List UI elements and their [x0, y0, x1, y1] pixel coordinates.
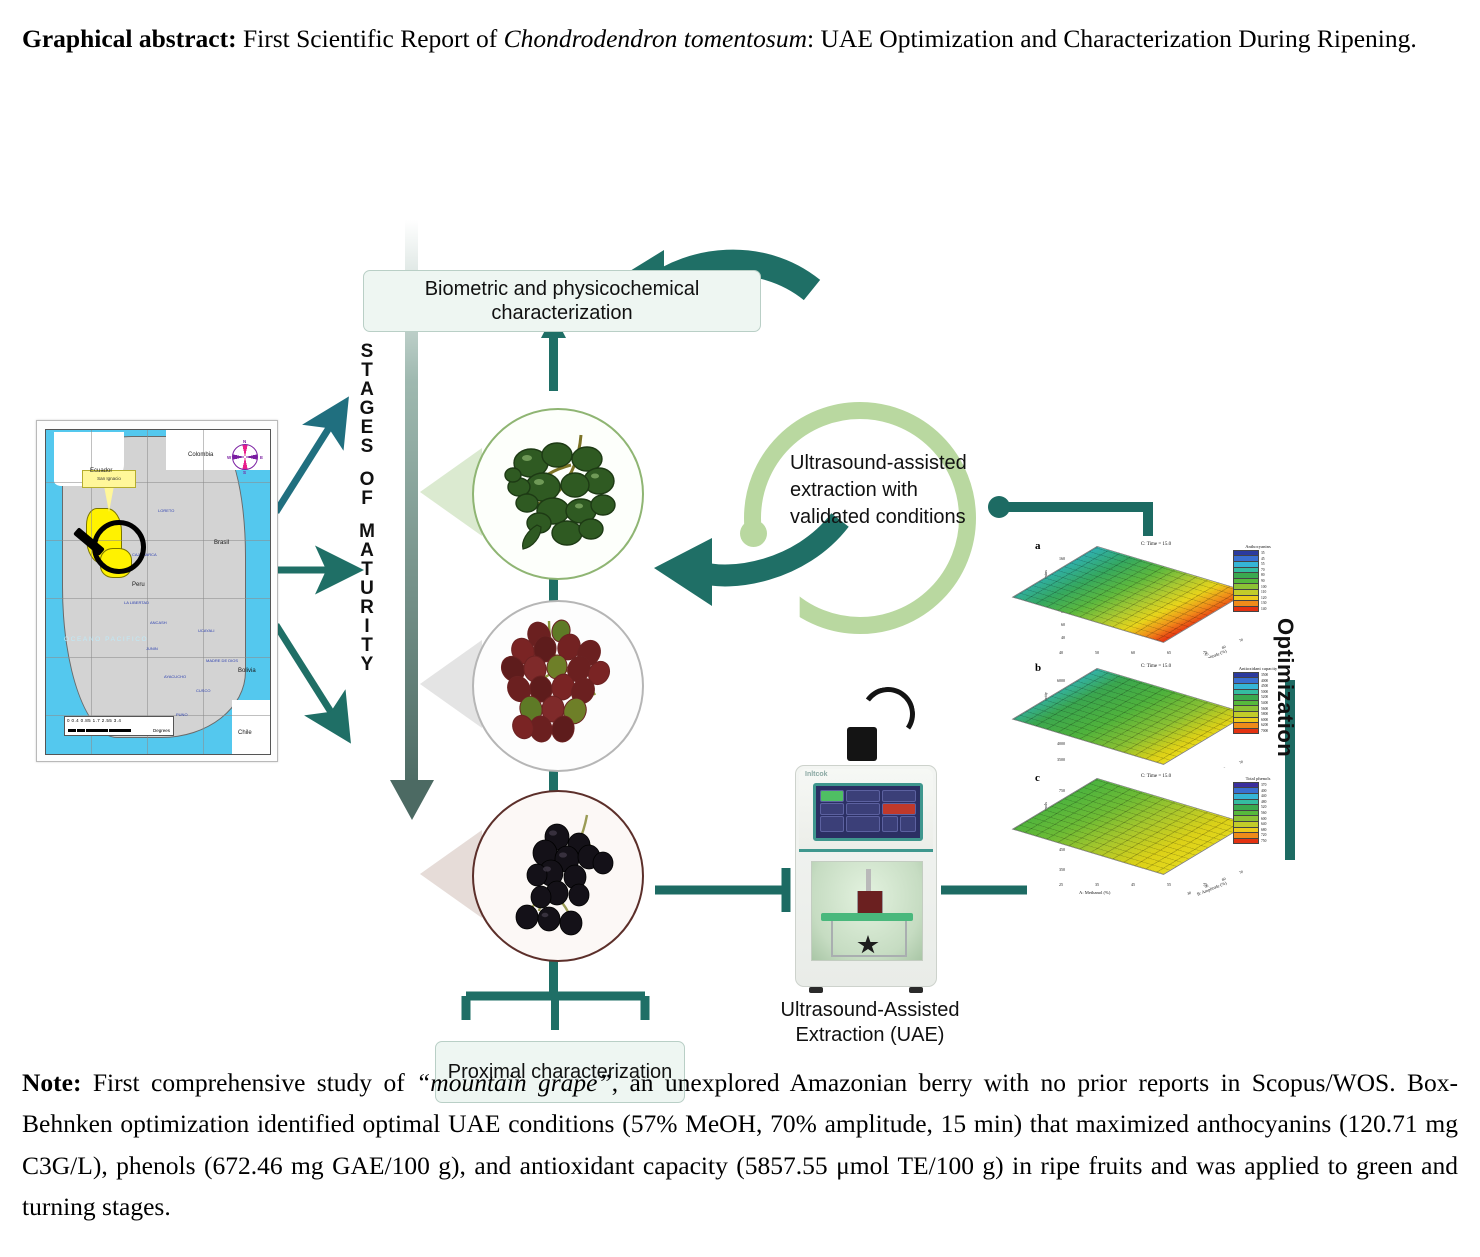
legend-value: 7000 — [1261, 729, 1268, 733]
machine-foot-left — [809, 987, 823, 993]
biometric-characterization-box[interactable]: Biometric and physicochemical characteri… — [363, 270, 761, 332]
map-gridline — [46, 482, 270, 483]
stage-letter: T — [352, 560, 382, 579]
fruit-circle-ripe-stage[interactable] — [472, 790, 644, 962]
stage-letter-gap — [352, 508, 382, 522]
map-label-bolivia: Bolivia — [238, 668, 256, 674]
machine-transducer-icon — [847, 727, 877, 761]
tick: 70 — [1238, 637, 1244, 643]
peru-map-panel: San Ignacio Ecuador Colombia Brasil Boli… — [36, 420, 278, 762]
legend-value: 100 — [1261, 585, 1266, 589]
legend-value: 35 — [1261, 551, 1265, 555]
stage-letter: A — [352, 541, 382, 560]
map-label-peru: Peru — [132, 582, 145, 588]
map-scale-bars — [68, 729, 131, 732]
legend-value: 3500 — [1261, 673, 1268, 677]
title-rest-2: : UAE Optimization and Characterization … — [807, 24, 1417, 53]
graphical-abstract-note: Note: First comprehensive study of “moun… — [22, 1062, 1458, 1227]
legend-value: 5200 — [1261, 695, 1268, 699]
screen-button-f[interactable] — [900, 816, 916, 832]
legend-value: 5400 — [1261, 701, 1268, 705]
stage-letter: F — [352, 489, 382, 508]
legend-value: 55 — [1261, 562, 1265, 566]
map-landmass-chile — [232, 700, 271, 754]
compass-s-label: S — [243, 470, 246, 475]
stage-letter: S — [352, 437, 382, 456]
map-label-region: MADRE DE DIOS — [206, 658, 238, 663]
legend-swatch — [1233, 606, 1259, 613]
legend-value: 130 — [1261, 601, 1266, 605]
screen-button-c[interactable] — [820, 816, 844, 832]
machine-brand-label: Inltcok — [805, 771, 828, 778]
tick: 35 — [1095, 882, 1099, 887]
legend-value: 480 — [1261, 800, 1266, 804]
stage-letter: U — [352, 579, 382, 598]
turning-grapes-illustration — [483, 611, 633, 761]
note-lead: Note: — [22, 1068, 81, 1097]
stages-of-maturity-axis-label: S T A G E S O F M A T U R I T Y — [352, 342, 382, 674]
graphical-abstract-figure: San Ignacio Ecuador Colombia Brasil Boli… — [0, 120, 1480, 1030]
tick: 60 — [1131, 650, 1135, 655]
legend-value: 4000 — [1261, 679, 1268, 683]
legend-value: 400 — [1261, 789, 1266, 793]
legend-value: 4500 — [1261, 684, 1268, 688]
map-label-region: UCAYALI — [198, 628, 215, 633]
map-gridline — [203, 430, 204, 754]
legend-value: 440 — [1261, 794, 1266, 798]
map-canvas: San Ignacio Ecuador Colombia Brasil Boli… — [45, 429, 271, 755]
map-to-stages-arrows — [276, 420, 336, 720]
biometric-box-label: Biometric and physicochemical characteri… — [374, 277, 750, 326]
fruit-circle-turning-stage[interactable] — [472, 600, 644, 772]
plot-c-x-ticks: 25 35 45 55 75 — [1059, 882, 1207, 887]
plot-c-legend-title: Total phenols — [1233, 776, 1283, 781]
uae-ring-label: Ultrasound-assisted extraction with vali… — [790, 450, 972, 530]
legend-value: 520 — [1261, 805, 1266, 809]
screen-button-e[interactable] — [882, 816, 898, 832]
screen-field-time[interactable] — [820, 790, 844, 802]
map-label-region: LA LIBERTAD — [124, 600, 149, 605]
fruit-circle-green-stage[interactable] — [472, 408, 644, 580]
map-compass-icon: N S E W — [232, 444, 258, 470]
screen-button-b[interactable] — [846, 803, 880, 815]
plot-c-legend: Total phenols 37040044048052056060064068… — [1233, 776, 1283, 844]
map-label-chile: Chile — [238, 730, 252, 736]
ultrasound-machine-illustration[interactable]: Inltcok — [795, 765, 937, 987]
plot-a-surface — [1012, 546, 1249, 643]
plot-b-surface — [1012, 668, 1249, 765]
note-part-1: First comprehensive study of — [81, 1068, 416, 1097]
ripe-grapes-illustration — [483, 801, 633, 951]
plot-c-legend-rows: 370400440480520560600640680720750 — [1233, 782, 1283, 844]
plot-a-legend: Anthocyanins 354555708090100110120130140 — [1233, 544, 1283, 612]
optimization-plots-group: a C: Time = 15.0 Anthocyanins A: Methano… — [1027, 420, 1285, 870]
map-gridline — [147, 430, 148, 754]
compass-rose — [232, 444, 258, 470]
legend-value: 6000 — [1261, 718, 1268, 722]
map-label-ecuador: Ecuador — [90, 468, 112, 474]
plot-c-xlabel: A: Methanol (%) — [1079, 890, 1110, 895]
map-label-ocean: OCEANO PACIFICO — [64, 636, 148, 643]
title-species: Chondrodendron tomentosum — [504, 24, 807, 53]
plot-a-x-ticks: 40 50 60 65 75 — [1059, 650, 1207, 655]
stage-letter: M — [352, 522, 382, 541]
stage-letter: E — [352, 418, 382, 437]
legend-value: 600 — [1261, 817, 1266, 821]
legend-value: 5800 — [1261, 712, 1268, 716]
legend-value: 680 — [1261, 828, 1266, 832]
plot-c-surface-wrap — [1061, 786, 1221, 874]
stage-letter-gap — [352, 456, 382, 470]
legend-row: 140 — [1233, 606, 1283, 612]
stage-letter: G — [352, 399, 382, 418]
screen-button-d[interactable] — [846, 816, 880, 832]
stage-letter: A — [352, 380, 382, 399]
map-label-region: PUNO — [176, 712, 188, 717]
legend-value: 750 — [1261, 839, 1266, 843]
stage-letter: I — [352, 617, 382, 636]
screen-field-stop-1[interactable] — [882, 790, 916, 802]
machine-foot-right — [909, 987, 923, 993]
stage-letter: S — [352, 342, 382, 361]
screen-field-frequency[interactable] — [846, 790, 880, 802]
map-callout-stem — [104, 486, 114, 512]
stage-letter: Y — [352, 655, 382, 674]
map-label-region: LORETO — [158, 508, 174, 513]
tick: 40 — [1059, 650, 1063, 655]
map-label-region: ANCASH — [150, 620, 167, 625]
title-rest-1: First Scientific Report of — [237, 24, 504, 53]
compass-n-label: N — [243, 439, 246, 444]
map-label-brasil: Brasil — [214, 540, 229, 546]
legend-swatch — [1233, 728, 1259, 735]
legend-value: 80 — [1261, 573, 1265, 577]
legend-value: 720 — [1261, 833, 1266, 837]
map-scale-unit: Degrees — [153, 728, 170, 733]
tick: 70 — [1238, 759, 1244, 765]
plot-b-surface-wrap — [1061, 676, 1221, 764]
map-label-region: AYACUCHO — [164, 674, 186, 679]
plot-a-legend-title: Anthocyanins — [1233, 544, 1283, 549]
screen-button-a[interactable] — [820, 803, 844, 815]
legend-swatch — [1233, 838, 1259, 845]
note-quoted-term: “mountain grape” — [416, 1068, 612, 1097]
compass-w-label: W — [227, 455, 231, 460]
stage-letter: T — [352, 361, 382, 380]
connector-dot-top — [988, 496, 1010, 518]
legend-value: 560 — [1261, 811, 1266, 815]
map-label-region: JUNIN — [146, 646, 158, 651]
stage-letter: R — [352, 598, 382, 617]
title-lead: Graphical abstract: — [22, 24, 237, 53]
stage-letter: T — [352, 636, 382, 655]
surface-plot-c: c C: Time = 15.0 Total phenols A: Methan… — [1027, 768, 1285, 903]
tick: 55 — [1167, 882, 1171, 887]
machine-touchscreen[interactable] — [813, 783, 923, 841]
tick: 50 — [1095, 650, 1099, 655]
legend-value: 110 — [1261, 590, 1266, 594]
legend-value: 90 — [1261, 579, 1265, 583]
legend-value: 5600 — [1261, 707, 1268, 711]
machine-platform — [821, 913, 913, 921]
optimization-axis-label: Optimization — [1272, 618, 1298, 757]
proximal-stem — [551, 996, 559, 1030]
legend-value: 6200 — [1261, 723, 1268, 727]
legend-value: 640 — [1261, 822, 1266, 826]
plot-a-legend-rows: 354555708090100110120130140 — [1233, 550, 1283, 612]
compass-e-label: E — [260, 455, 263, 460]
map-gridline — [46, 598, 270, 599]
machine-caption: Ultrasound-Assisted Extraction (UAE) — [750, 998, 990, 1048]
legend-value: 370 — [1261, 783, 1266, 787]
screen-field-stop-2[interactable] — [882, 803, 916, 815]
stage-letter: O — [352, 470, 382, 489]
map-label-colombia: Colombia — [188, 452, 213, 458]
uae-ring-end-cap — [740, 520, 767, 547]
legend-row: 750 — [1233, 838, 1283, 844]
map-label-region: CUSCO — [196, 688, 210, 693]
proximal-bracket — [466, 996, 645, 1020]
surface-plot-a: a C: Time = 15.0 Anthocyanins A: Methano… — [1027, 536, 1285, 671]
green-grapes-illustration — [483, 419, 633, 569]
tick: 45 — [1131, 882, 1135, 887]
map-scale-numbers: 0 0.4 0.85 1.7 2.55 3.4 — [67, 718, 121, 723]
ripe-to-machine — [655, 868, 786, 912]
legend-value: 120 — [1261, 596, 1266, 600]
legend-value: 45 — [1261, 557, 1265, 561]
legend-value: 140 — [1261, 607, 1266, 611]
graphical-abstract-title: Graphical abstract: First Scientific Rep… — [22, 18, 1458, 59]
plot-a-surface-wrap — [1061, 554, 1221, 642]
legend-value: 70 — [1261, 568, 1265, 572]
map-scalebar: 0 0.4 0.85 1.7 2.55 3.4 Degrees — [64, 716, 174, 736]
plot-c-surface — [1012, 778, 1249, 875]
tick: 65 — [1167, 650, 1171, 655]
tick: 70 — [1238, 869, 1244, 875]
tick: 25 — [1059, 882, 1063, 887]
tick: 30 — [1186, 890, 1192, 896]
legend-value: 5000 — [1261, 690, 1268, 694]
